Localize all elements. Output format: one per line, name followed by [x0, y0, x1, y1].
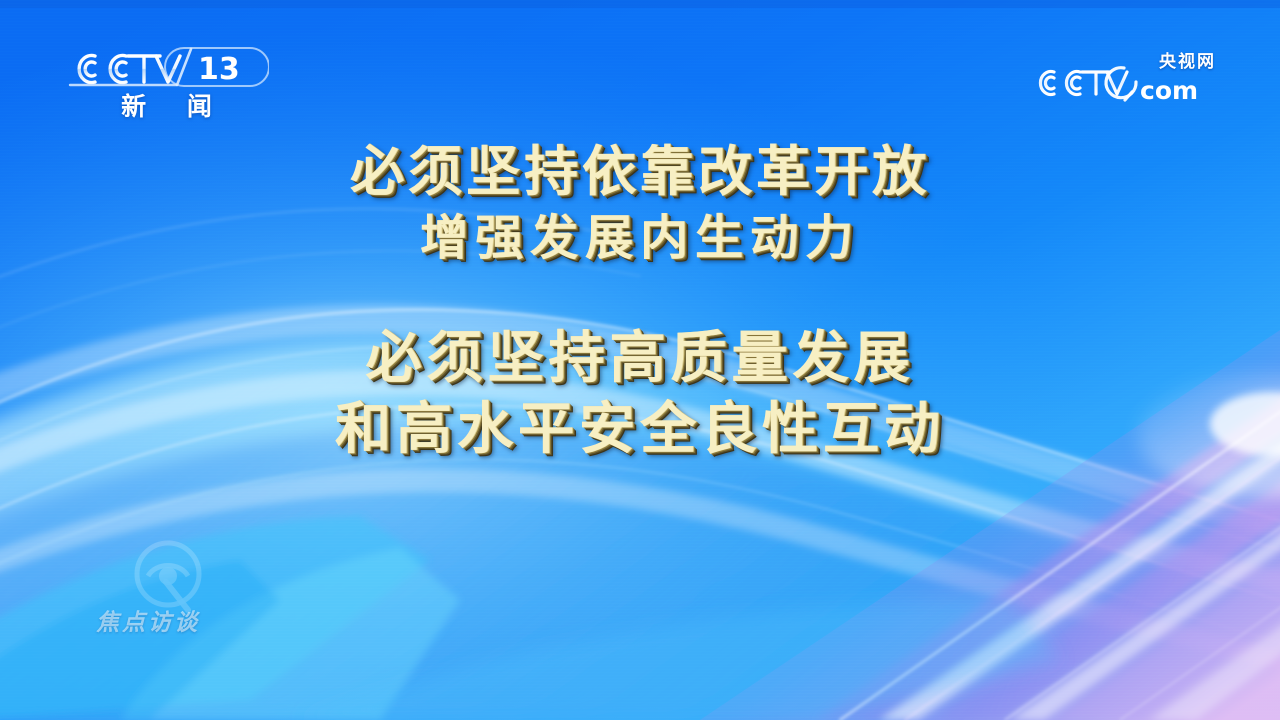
cctv13-wordmark: 13 [64, 44, 269, 88]
program-watermark-title: 焦点访谈 [96, 612, 296, 635]
svg-text:com: com [1140, 76, 1198, 105]
headline-block-primary: 必须坚持依靠改革开放 增强发展内生动力 [0, 142, 1280, 266]
svg-text:13: 13 [198, 52, 240, 87]
cctv13-channel-logo: 13 新 闻 [64, 44, 274, 136]
headline-line: 必须坚持高质量发展 [0, 328, 1280, 391]
eye-swoosh-icon [126, 536, 210, 620]
headline-block-secondary: 必须坚持高质量发展 和高水平安全良性互动 [0, 328, 1280, 461]
cctv13-subtitle: 新 闻 [64, 94, 269, 119]
headline-line: 必须坚持依靠改革开放 [0, 142, 1280, 202]
cctvcom-network-logo: com 央视网 [1032, 52, 1218, 106]
program-watermark: 焦点访谈 [96, 536, 296, 656]
cctvcom-chinese-name: 央视网 [1159, 54, 1216, 71]
broadcast-frame: 13 新 闻 [0, 0, 1280, 720]
headline-line: 增强发展内生动力 [0, 212, 1280, 266]
headline-line: 和高水平安全良性互动 [0, 399, 1280, 462]
